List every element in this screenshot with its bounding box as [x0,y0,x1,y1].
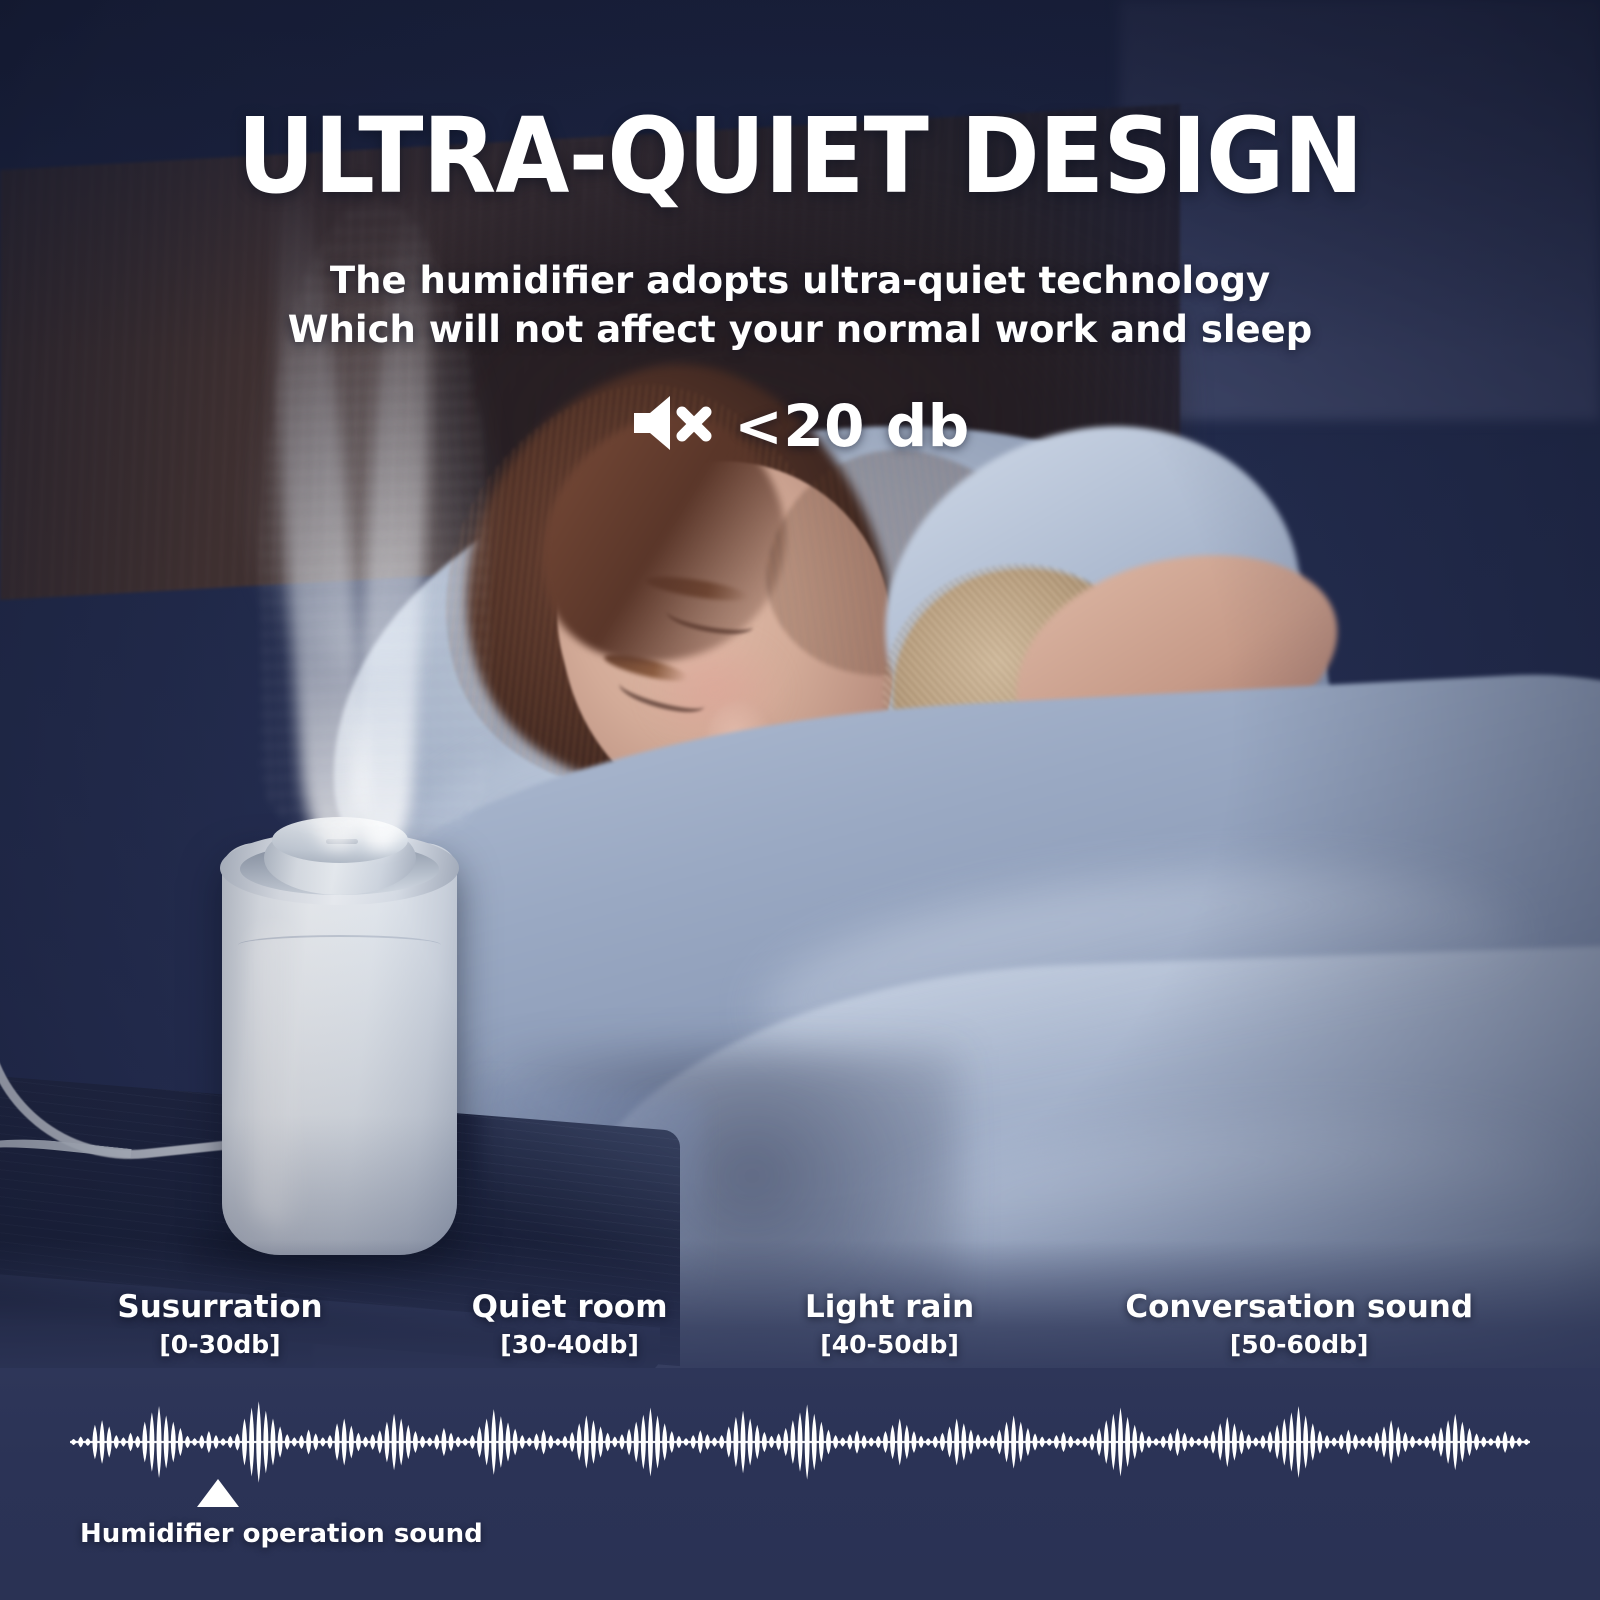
sound-waveform-chart [70,1400,1530,1484]
scale-item-conversation-sound: Conversation sound [50-60db] [1125,1290,1473,1359]
scale-item-susurration: Susurration [0-30db] [117,1290,322,1359]
humidifier-seam [238,935,441,955]
humidifier-sound-marker-icon [196,1478,240,1508]
page-title: ULTRA-QUIET DESIGN [64,104,1536,208]
scale-item-light-rain: Light rain [40-50db] [805,1290,974,1359]
scale-label-range: [0-30db] [117,1331,322,1359]
scale-label-range: [30-40db] [472,1331,668,1359]
scale-item-quiet-room: Quiet room [30-40db] [472,1290,668,1359]
db-badge: <20 db [0,392,1600,459]
subtitle-line-1: The humidifier adopts ultra-quiet techno… [0,258,1600,305]
product-marketing-poster: ULTRA-QUIET DESIGN The humidifier adopts… [0,0,1600,1600]
scale-label-name: Quiet room [472,1290,668,1324]
mist-plumes [250,150,510,850]
scale-label-name: Susurration [117,1290,322,1324]
scale-label-name: Light rain [805,1290,974,1324]
humidifier-gloss-highlight [252,925,304,1225]
db-value: <20 db [734,397,970,455]
scale-label-range: [40-50db] [805,1331,974,1359]
mute-speaker-icon [630,392,718,459]
marker-caption: Humidifier operation sound [80,1519,483,1549]
scale-label-range: [50-60db] [1125,1331,1473,1359]
sound-scale-labels: Susurration [0-30db] Quiet room [30-40db… [0,1290,1600,1370]
scale-label-name: Conversation sound [1125,1290,1473,1324]
subtitle-line-2: Which will not affect your normal work a… [0,307,1600,354]
humidifier-product [222,815,457,1255]
